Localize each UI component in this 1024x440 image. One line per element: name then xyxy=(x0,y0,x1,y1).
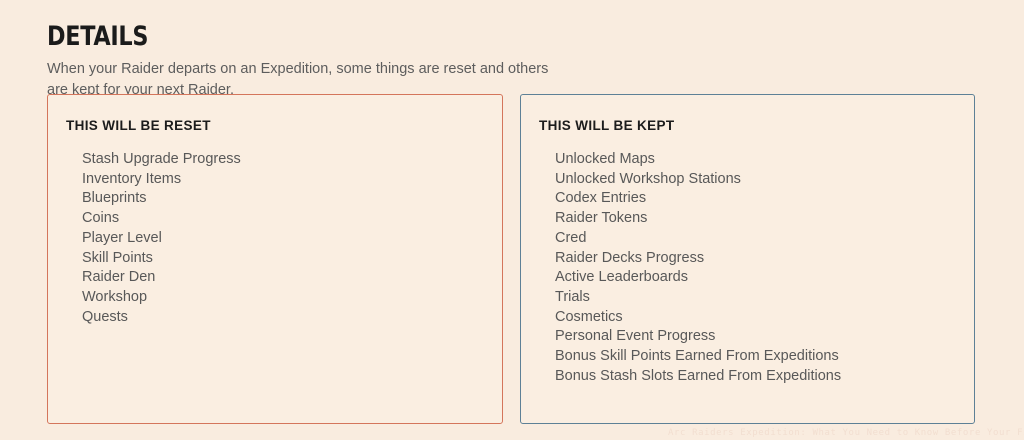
list-item: Active Leaderboards xyxy=(555,268,841,288)
list-item: Unlocked Maps xyxy=(555,150,841,170)
list-item: Unlocked Workshop Stations xyxy=(555,170,841,190)
panel-heading-kept: THIS WILL BE KEPT xyxy=(539,118,674,133)
list-item: Raider Tokens xyxy=(555,209,841,229)
details-page: DETAILS When your Raider departs on an E… xyxy=(0,0,1024,440)
list-item: Quests xyxy=(82,308,241,328)
list-item: Stash Upgrade Progress xyxy=(82,150,241,170)
list-item: Skill Points xyxy=(82,249,241,269)
panel-heading-reset: THIS WILL BE RESET xyxy=(66,118,211,133)
list-item: Blueprints xyxy=(82,189,241,209)
list-item: Workshop xyxy=(82,288,241,308)
list-item: Codex Entries xyxy=(555,189,841,209)
list-item: Player Level xyxy=(82,229,241,249)
reset-items-list: Stash Upgrade Progress Inventory Items B… xyxy=(82,150,241,327)
list-item: Inventory Items xyxy=(82,170,241,190)
list-item: Cosmetics xyxy=(555,308,841,328)
list-item: Raider Den xyxy=(82,268,241,288)
list-item: Trials xyxy=(555,288,841,308)
list-item: Raider Decks Progress xyxy=(555,249,841,269)
page-title: DETAILS xyxy=(47,22,148,52)
list-item: Personal Event Progress xyxy=(555,327,841,347)
panel-will-be-reset: THIS WILL BE RESET Stash Upgrade Progres… xyxy=(47,94,503,424)
list-item: Bonus Stash Slots Earned From Expedition… xyxy=(555,367,841,387)
kept-items-list: Unlocked Maps Unlocked Workshop Stations… xyxy=(555,150,841,386)
footer-watermark: Arc Raiders Expedition: What You Need to… xyxy=(668,428,1024,439)
list-item: Cred xyxy=(555,229,841,249)
list-item: Bonus Skill Points Earned From Expeditio… xyxy=(555,347,841,367)
panel-will-be-kept: THIS WILL BE KEPT Unlocked Maps Unlocked… xyxy=(520,94,975,424)
list-item: Coins xyxy=(82,209,241,229)
